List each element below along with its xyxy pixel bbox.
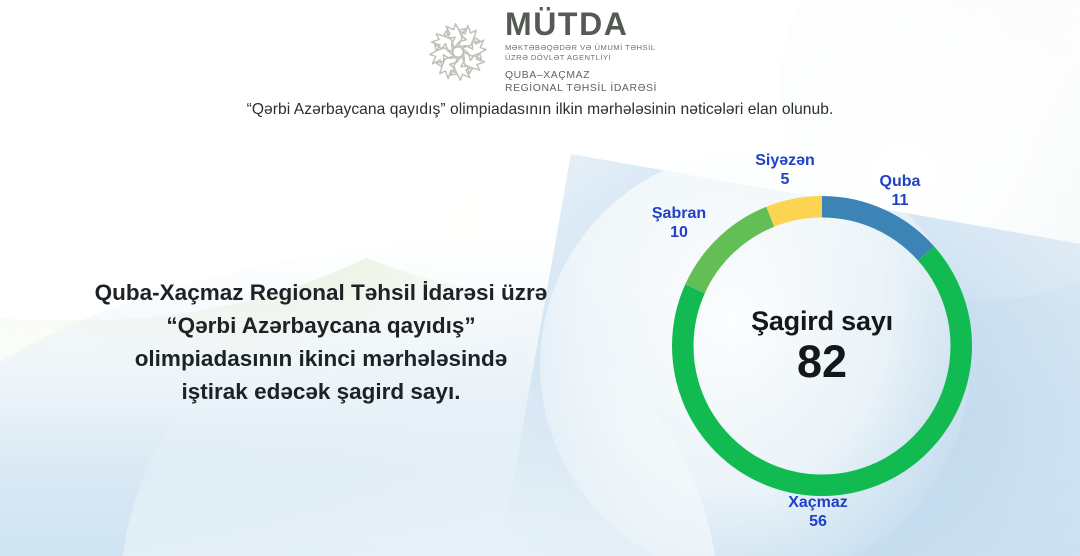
logo-department-line1: QUBA–XAÇMAZ [505, 70, 590, 81]
message-line-3: olimpiadasının ikinci mərhələsində [26, 342, 616, 375]
slice-label-quba: Quba 11 [848, 173, 952, 211]
slice-label-xacmaz-value: 56 [742, 513, 894, 532]
slice-label-siyezen: Siyəzən 5 [722, 152, 848, 190]
slice-label-xacmaz: Xaçmaz 56 [742, 494, 894, 532]
slice-label-siyezen-value: 5 [722, 171, 848, 190]
logo-department: QUBA–XAÇMAZ REGİONAL TƏHSİL İDARƏSİ [505, 69, 657, 96]
message-line-1: Quba-Xaçmaz Regional Təhsil İdarəsi üzrə [26, 276, 616, 309]
slice-label-quba-value: 11 [848, 192, 952, 211]
slice-label-siyezen-name: Siyəzən [722, 152, 848, 171]
slice-label-quba-name: Quba [848, 173, 952, 192]
brand-logo: MÜTDA MƏKTƏBƏQƏDƏR VƏ ÜMUMİ TƏHSİL ÜZRƏ … [0, 8, 1080, 95]
logo-title: MÜTDA [505, 8, 657, 41]
logo-department-line2: REGİONAL TƏHSİL İDARƏSİ [505, 83, 657, 94]
logo-subtitle: MƏKTƏBƏQƏDƏR VƏ ÜMUMİ TƏHSİL ÜZRƏ DÖVLƏT… [505, 43, 657, 64]
main-message: Quba-Xaçmaz Regional Təhsil İdarəsi üzrə… [26, 276, 616, 408]
slice-label-sabran: Şabran 10 [618, 205, 740, 243]
logo-subtitle-line1: MƏKTƏBƏQƏDƏR VƏ ÜMUMİ TƏHSİL [505, 43, 655, 52]
message-line-4: iştirak edəcək şagird sayı. [26, 375, 616, 408]
headline-text: “Qərbi Azərbaycana qayıdış” olimpiadasın… [0, 101, 1080, 119]
eight-point-rosette-icon [423, 17, 493, 87]
slice-label-sabran-value: 10 [618, 224, 740, 243]
infographic-canvas: MÜTDA MƏKTƏBƏQƏDƏR VƏ ÜMUMİ TƏHSİL ÜZRƏ … [0, 0, 1080, 556]
logo-text-block: MÜTDA MƏKTƏBƏQƏDƏR VƏ ÜMUMİ TƏHSİL ÜZRƏ … [505, 8, 657, 95]
slice-label-xacmaz-name: Xaçmaz [742, 494, 894, 513]
message-line-2: “Qərbi Azərbaycana qayıdış” [26, 309, 616, 342]
slice-label-sabran-name: Şabran [618, 205, 740, 224]
logo-subtitle-line2: ÜZRƏ DÖVLƏT AGENTLİYİ [505, 53, 611, 62]
